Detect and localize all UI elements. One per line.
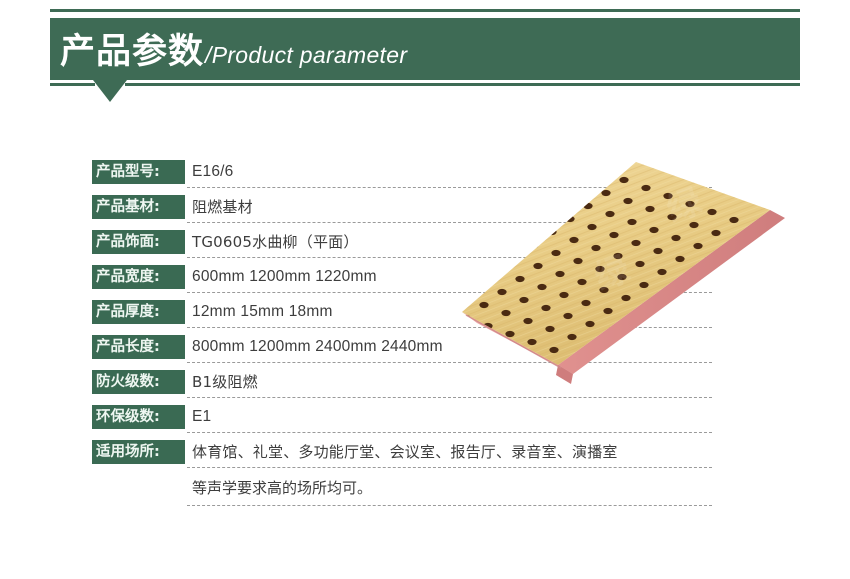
param-value-wrap-applications-continued: 等声学要求高的场所均可。 — [187, 475, 712, 506]
param-value-applications-continued: 等声学要求高的场所均可。 — [187, 475, 712, 501]
param-label-applications: 适用场所: — [92, 440, 185, 464]
page-title-english: /Product parameter — [205, 44, 407, 67]
header-top-rule — [50, 9, 800, 12]
param-row-applications-continued: 等声学要求高的场所均可。 — [92, 475, 712, 512]
param-label-veneer: 产品饰面: — [92, 230, 185, 254]
param-value-applications: 体育馆、礼堂、多功能厅堂、会议室、报告厅、录音室、演播室 — [187, 440, 712, 464]
header-bottom-rule-right — [125, 83, 800, 86]
page-header-banner: 产品参数 /Product parameter — [0, 0, 850, 115]
param-value-wrap-applications: 体育馆、礼堂、多功能厅堂、会议室、报告厅、录音室、演播室 — [187, 440, 712, 468]
param-label-model: 产品型号: — [92, 160, 185, 184]
page-title: 产品参数 /Product parameter — [60, 26, 407, 78]
header-bottom-rule-left — [50, 83, 95, 86]
param-label-length: 产品长度: — [92, 335, 185, 359]
param-label-width: 产品宽度: — [92, 265, 185, 289]
header-arrow-icon — [93, 80, 127, 102]
param-label-substrate: 产品基材: — [92, 195, 185, 219]
page-title-chinese: 产品参数 — [60, 35, 204, 70]
param-label-eco-rating: 环保级数: — [92, 405, 185, 429]
param-label-fire-rating: 防火级数: — [92, 370, 185, 394]
param-row-applications: 适用场所: 体育馆、礼堂、多功能厅堂、会议室、报告厅、录音室、演播室 — [92, 440, 712, 475]
param-label-thickness: 产品厚度: — [92, 300, 185, 324]
product-panel-image: 绿 绿 — [440, 160, 840, 430]
